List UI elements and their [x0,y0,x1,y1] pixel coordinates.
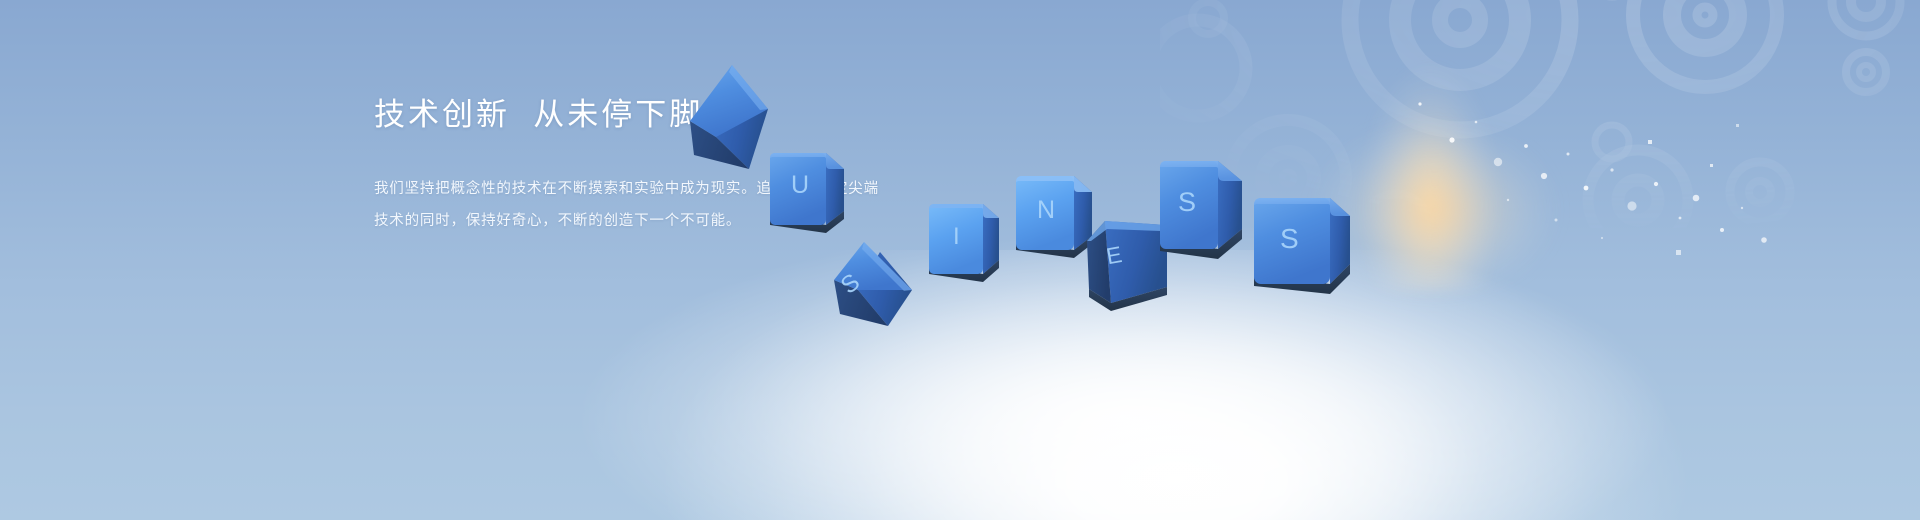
hero-banner: 技术创新 从未停下脚步 我们坚持把概念性的技术在不断摸索和实验中成为现实。追求应… [0,0,1920,520]
subcopy-line-1: 我们坚持把概念性的技术在不断摸索和实验中成为现实。追求应用稳定尖端 [374,173,934,206]
keycap-group: U S I [0,0,1920,520]
keycap-i: I [925,198,1003,284]
keycap-e: E [1085,215,1181,315]
keycap-s-middle: S [1152,155,1248,265]
hero-copy-block: 技术创新 从未停下脚步 我们坚持把概念性的技术在不断摸索和实验中成为现实。追求应… [374,96,934,238]
subcopy-line-2: 技术的同时，保持好奇心，不断的创造下一个不可能。 [374,205,934,238]
keycap-s-middle-glyph: S [1178,187,1196,217]
keycap-n-glyph: N [1037,196,1055,224]
page-title: 技术创新 从未停下脚步 [374,96,934,135]
warm-flare-vertical-icon [1310,0,1550,290]
hero-subcopy: 我们坚持把概念性的技术在不断摸索和实验中成为现实。追求应用稳定尖端 技术的同时，… [374,135,934,238]
bottom-bloom-glow [480,250,1880,520]
sparkle-particles-decoration [1380,80,1800,280]
keycap-i-glyph: I [953,223,960,250]
keycap-s-tilted: S [822,238,918,338]
concentric-rings-decoration [1160,0,1920,260]
keycap-s-tilted-glyph: S [836,268,865,299]
warm-flare-round-icon [1270,90,1600,330]
keycap-n: N [1010,168,1096,262]
keycap-s-right-glyph: S [1280,223,1299,254]
keycap-e-glyph: E [1104,241,1124,269]
keycap-s-right: S [1250,192,1354,300]
